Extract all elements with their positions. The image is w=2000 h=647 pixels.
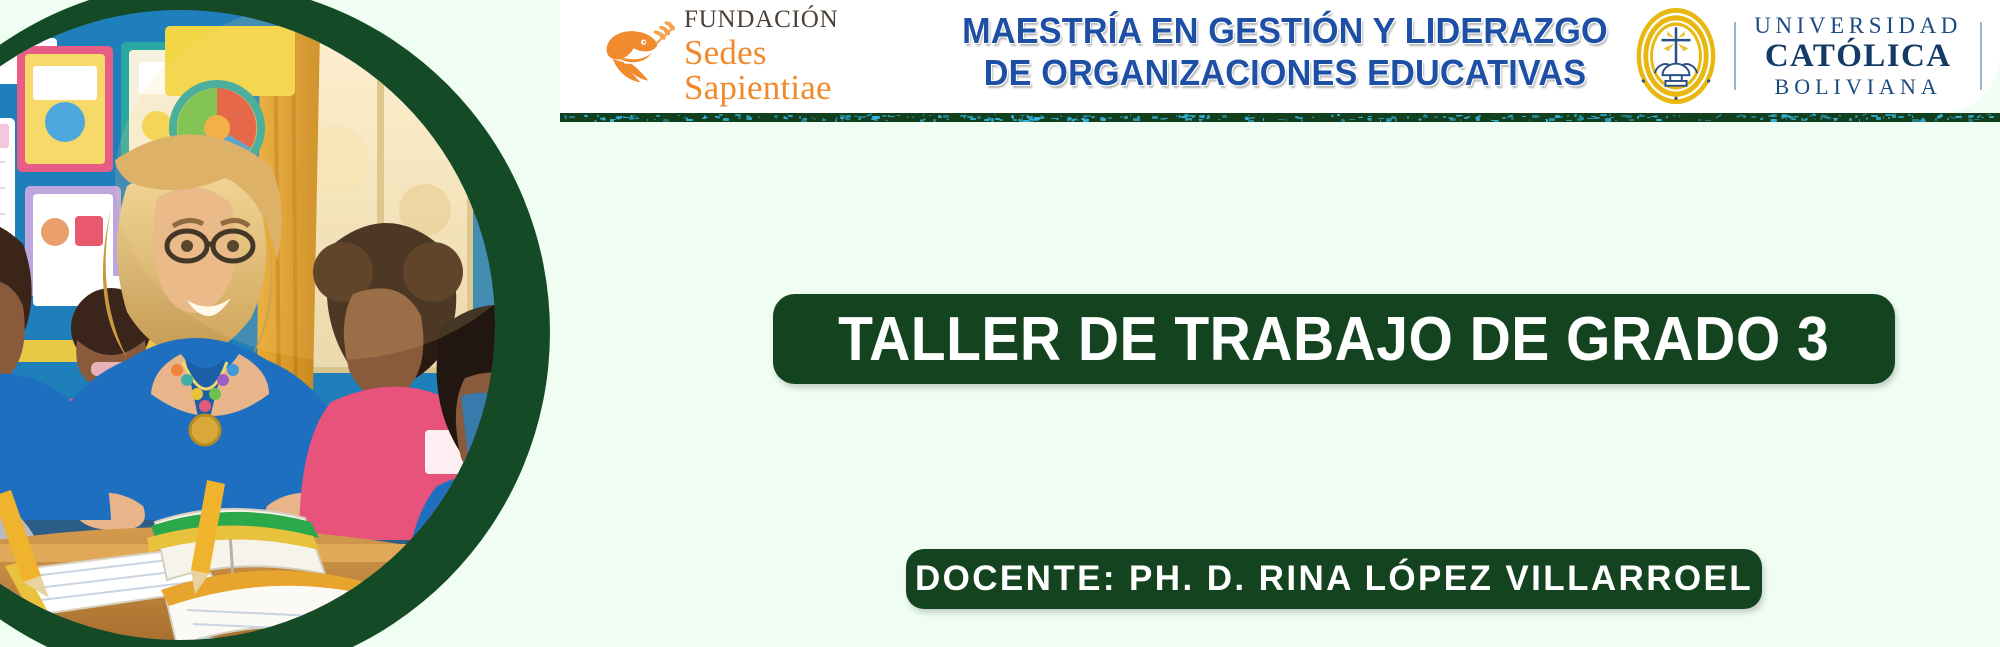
divider-fleck (1968, 118, 1974, 122)
divider-fleck (1017, 118, 1023, 122)
divider-fleck (1248, 120, 1255, 122)
divider-fleck (1467, 116, 1470, 118)
divider-fleck (1448, 117, 1453, 119)
divider-fleck (1186, 118, 1192, 119)
divider-fleck (1974, 119, 1981, 120)
divider-fleck (1629, 119, 1634, 121)
divider-fleck (923, 114, 925, 116)
fundacion-name-line2: Sedes Sapientiae (684, 35, 900, 105)
divider-fleck (584, 114, 588, 117)
divider-fleck (1108, 117, 1112, 119)
divider-fleck (1621, 115, 1627, 117)
header-bar: FUNDACIÓN Sedes Sapientiae MAESTRÍA EN G… (560, 0, 2000, 113)
divider-fleck (897, 115, 900, 117)
divider-fleck (738, 116, 741, 119)
divider-fleck (801, 120, 808, 123)
divider-fleck (600, 117, 606, 120)
ucb-line-1: UNIVERSIDAD (1754, 14, 1962, 37)
divider-fleck (1337, 114, 1340, 116)
divider-fleck (597, 115, 599, 117)
divider-fleck (1770, 119, 1776, 122)
divider-fleck (677, 115, 681, 117)
divider-fleck (1908, 114, 1912, 115)
divider-fleck (1559, 116, 1563, 119)
divider-fleck (1955, 116, 1962, 118)
divider-fleck (1181, 116, 1187, 118)
divider-fleck (846, 115, 850, 118)
divider-fleck (999, 119, 1004, 121)
divider-fleck (1249, 117, 1255, 119)
divider-fleck (859, 116, 866, 119)
divider-fleck (1378, 118, 1385, 119)
divider-fleck (1077, 116, 1079, 118)
divider-fleck (929, 115, 931, 117)
divider-fleck (663, 119, 669, 122)
divider-fleck (1507, 116, 1510, 118)
divider-fleck (618, 118, 619, 120)
divider-fleck (783, 117, 788, 120)
program-title: MAESTRÍA EN GESTIÓN Y LIDERAZGO DE ORGAN… (934, 10, 1637, 94)
divider-fleck (1839, 115, 1841, 117)
divider-fleck (1120, 116, 1123, 117)
divider-fleck (835, 119, 837, 122)
course-title-text: TALLER DE TRABAJO DE GRADO 3 (838, 304, 1829, 375)
course-title-banner: TALLER DE TRABAJO DE GRADO 3 (773, 294, 1895, 384)
divider-fleck (1532, 115, 1538, 117)
divider-fleck (1488, 119, 1490, 120)
divider-fleck (882, 115, 887, 117)
ucb-seal-icon (1628, 6, 1724, 106)
divider-fleck (1679, 115, 1681, 117)
divider-fleck (1395, 118, 1397, 121)
divider-fleck (1760, 118, 1763, 120)
divider-fleck (822, 119, 826, 122)
divider-fleck (1176, 115, 1177, 117)
divider-fleck (1698, 119, 1700, 120)
divider-fleck (1218, 119, 1222, 120)
divider-fleck (1205, 116, 1209, 118)
divider-fleck (1647, 117, 1651, 118)
program-title-line-1: MAESTRÍA EN GESTIÓN Y LIDERAZGO (934, 10, 1637, 52)
dove-wheat-icon (600, 19, 678, 93)
divider-fleck (569, 116, 574, 118)
divider-fleck (1705, 120, 1712, 121)
divider-fleck (947, 119, 949, 121)
divider-fleck (1476, 118, 1480, 121)
divider-fleck (1935, 118, 1938, 120)
ucb-line-2: CATÓLICA (1765, 40, 1952, 73)
divider-fleck (1189, 115, 1196, 117)
divider-fleck (1921, 118, 1925, 121)
divider-fleck (1538, 116, 1541, 118)
divider-fleck (1456, 115, 1461, 117)
divider-fleck (1600, 114, 1607, 115)
divider-fleck (1286, 119, 1288, 121)
divider-fleck (594, 120, 597, 122)
divider-fleck (1673, 115, 1676, 117)
divider-fleck (1349, 119, 1356, 120)
divider-fleck (1380, 120, 1381, 122)
divider-fleck (933, 119, 936, 121)
ucb-logo: UNIVERSIDAD CATÓLICA BOLIVIANA (1628, 4, 1982, 108)
divider-fleck (1341, 118, 1346, 122)
divider-fleck (1574, 114, 1578, 117)
divider-fleck (703, 117, 709, 118)
divider-fleck (1460, 119, 1462, 122)
divider-fleck (811, 117, 816, 120)
divider-fleck (1386, 118, 1392, 121)
divider-fleck (735, 114, 741, 116)
divider-fleck (1081, 118, 1085, 120)
divider-fleck (1152, 116, 1158, 119)
divider-fleck (1577, 118, 1581, 121)
divider-fleck (1263, 118, 1264, 121)
speckled-divider (560, 113, 2000, 122)
divider-fleck (610, 119, 614, 122)
divider-fleck (1077, 119, 1080, 121)
divider-fleck (1034, 117, 1041, 120)
divider-fleck (1898, 116, 1904, 118)
divider-fleck (630, 115, 633, 118)
ucb-line-3: BOLIVIANA (1775, 76, 1942, 98)
divider-fleck (1587, 118, 1594, 119)
divider-fleck (654, 118, 657, 120)
divider-fleck (888, 116, 895, 118)
divider-fleck (774, 115, 778, 118)
divider-fleck (943, 115, 949, 118)
divider-fleck (1771, 114, 1777, 117)
divider-fleck (1027, 116, 1034, 119)
divider-fleck (1027, 120, 1034, 122)
divider-fleck (1597, 117, 1599, 120)
divider-fleck (885, 120, 888, 121)
divider-fleck (1067, 116, 1072, 118)
divider-fleck (907, 116, 908, 119)
divider-fleck (1407, 116, 1409, 118)
divider-fleck (1124, 116, 1128, 119)
divider-fleck (788, 114, 793, 116)
divider-fleck (1866, 117, 1868, 119)
divider-fleck (1947, 118, 1949, 120)
divider-fleck (1434, 116, 1439, 118)
divider-fleck (1133, 118, 1140, 121)
divider-fleck (1605, 118, 1611, 121)
divider-fleck (1862, 113, 1867, 116)
divider-fleck (758, 116, 760, 118)
divider-fleck (1085, 119, 1087, 121)
divider-fleck (912, 116, 914, 118)
divider-fleck (1968, 115, 1974, 117)
divider-fleck (1278, 119, 1284, 120)
divider-fleck (1013, 119, 1018, 122)
divider-fleck (845, 119, 851, 121)
divider-fleck (565, 118, 567, 119)
divider-fleck (1522, 116, 1526, 118)
divider-fleck (1301, 119, 1304, 122)
divider-fleck (1981, 117, 1984, 118)
instructor-banner: DOCENTE: PH. D. RINA LÓPEZ VILLARROEL (906, 549, 1762, 609)
divider-fleck (1876, 117, 1882, 120)
divider-fleck (987, 117, 992, 120)
instructor-text: DOCENTE: PH. D. RINA LÓPEZ VILLARROEL (915, 559, 1753, 599)
divider-fleck (970, 118, 976, 121)
divider-fleck (1786, 118, 1788, 120)
divider-fleck (1222, 115, 1227, 118)
divider-fleck (1883, 116, 1884, 118)
divider-fleck (1834, 118, 1836, 121)
divider-fleck (647, 119, 648, 122)
divider-fleck (1859, 119, 1860, 122)
divider-fleck (1529, 119, 1531, 121)
divider-fleck (1330, 114, 1334, 117)
divider-fleck (1615, 120, 1617, 121)
divider-fleck (1609, 114, 1611, 116)
divider-fleck (1567, 115, 1569, 117)
divider-fleck (1368, 118, 1372, 122)
divider-fleck (1911, 115, 1913, 118)
divider-fleck (1736, 114, 1743, 117)
divider-fleck (1297, 117, 1303, 119)
divider-fleck (1060, 115, 1063, 117)
divider-fleck (994, 114, 996, 115)
slide-canvas: FUNDACIÓN Sedes Sapientiae MAESTRÍA EN G… (0, 0, 2000, 647)
fundacion-logo: FUNDACIÓN Sedes Sapientiae (600, 8, 900, 104)
divider-fleck (1781, 117, 1784, 119)
divider-fleck (977, 116, 982, 119)
divider-fleck (1312, 117, 1315, 118)
divider-fleck (1082, 114, 1087, 118)
divider-fleck (836, 117, 839, 119)
divider-fleck (1198, 119, 1204, 120)
divider-fleck (1358, 117, 1363, 119)
program-title-line-2: DE ORGANIZACIONES EDUCATIVAS (934, 52, 1637, 94)
divider-fleck (1912, 119, 1919, 122)
divider-fleck (1989, 116, 1995, 119)
divider-fleck (1743, 115, 1746, 117)
divider-fleck (1885, 114, 1892, 116)
divider-fleck (1020, 115, 1025, 116)
divider-fleck (1892, 114, 1896, 117)
divider-fleck (723, 118, 729, 120)
divider-fleck (714, 116, 719, 119)
divider-fleck (1751, 116, 1756, 117)
divider-fleck (564, 115, 568, 117)
divider-fleck (1566, 120, 1572, 121)
divider-fleck (1091, 116, 1095, 117)
divider-fleck (702, 118, 706, 119)
divider-fleck (1888, 117, 1890, 119)
divider-fleck (866, 115, 867, 116)
divider-fleck (1813, 114, 1816, 116)
divider-fleck (1130, 114, 1132, 117)
divider-fleck (1937, 114, 1943, 119)
divider-fleck (1781, 115, 1786, 117)
divider-fleck (991, 118, 994, 121)
divider-fleck (1494, 120, 1500, 122)
divider-fleck (1637, 116, 1639, 119)
divider-fleck (1849, 118, 1852, 121)
divider-fleck (614, 119, 616, 121)
ucb-divider-left (1734, 22, 1736, 90)
divider-fleck (1443, 116, 1446, 118)
divider-fleck (1715, 115, 1721, 119)
divider-fleck (1656, 119, 1661, 121)
divider-fleck (1549, 118, 1556, 121)
divider-fleck (1102, 118, 1107, 121)
divider-fleck (1801, 119, 1808, 121)
divider-fleck (805, 118, 808, 120)
divider-fleck (799, 116, 801, 119)
divider-fleck (1827, 117, 1831, 118)
divider-fleck (1855, 115, 1859, 117)
divider-fleck (1502, 117, 1506, 119)
divider-fleck (1511, 117, 1515, 120)
divider-fleck (1666, 116, 1669, 118)
divider-fleck (1248, 115, 1250, 116)
divider-fleck (1056, 117, 1059, 120)
divider-fleck (656, 115, 660, 118)
divider-fleck (1814, 119, 1816, 121)
ucb-divider-right (1980, 22, 1982, 90)
divider-fleck (1163, 118, 1168, 119)
fundacion-name-line1: FUNDACIÓN (684, 7, 900, 32)
divider-fleck (1654, 115, 1658, 118)
